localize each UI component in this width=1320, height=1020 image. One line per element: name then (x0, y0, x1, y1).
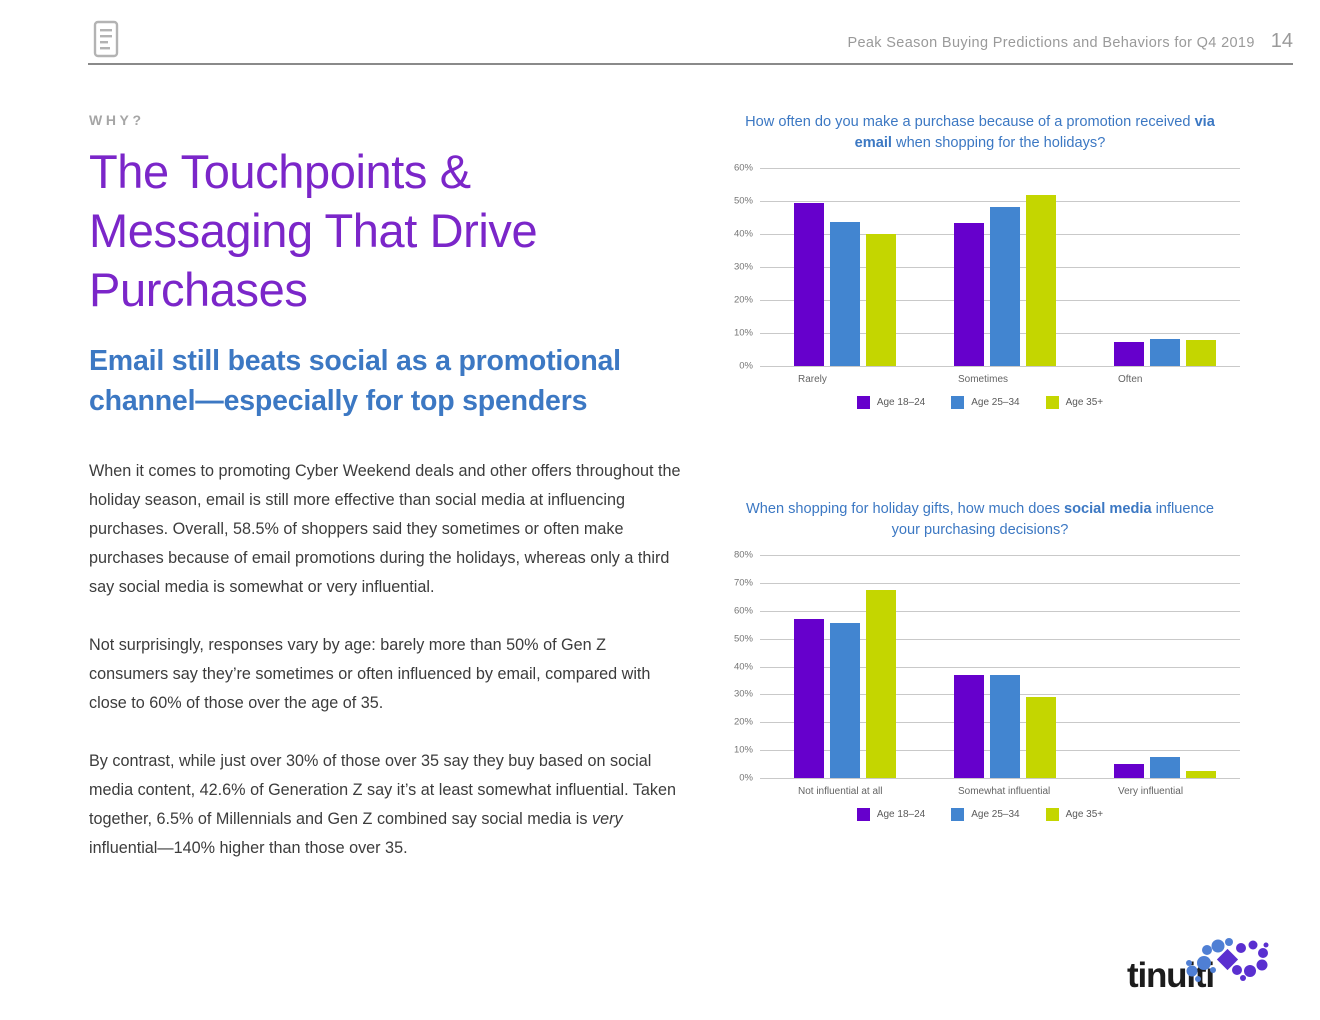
y-axis-tick: 0% (739, 773, 753, 784)
bar[interactable] (1150, 757, 1180, 778)
bar-group (760, 168, 920, 366)
x-axis-labels: RarelySometimesOften (760, 374, 1240, 385)
legend-swatch (951, 396, 964, 409)
x-axis-labels: Not influential at allSomewhat influenti… (760, 786, 1240, 797)
gridline: 0% (760, 366, 1240, 367)
bars-layer (760, 555, 1240, 778)
infinity-dots-icon (1180, 936, 1272, 993)
chart-title-bold: social media (1064, 501, 1152, 517)
section-eyebrow: WHY? (89, 112, 689, 128)
header-divider (88, 63, 1293, 65)
bar-group (1080, 168, 1240, 366)
paragraph-1: When it comes to promoting Cyber Weekend… (89, 457, 689, 602)
legend-label: Age 25–34 (971, 397, 1019, 408)
y-axis-tick: 20% (734, 295, 753, 306)
legend-swatch (951, 808, 964, 821)
chart-title-part1: When shopping for holiday gifts, how muc… (746, 501, 1064, 517)
y-axis-tick: 0% (739, 361, 753, 372)
chart-email-promotion-frequency: How often do you make a purchase because… (720, 112, 1240, 409)
article-column: WHY? The Touchpoints & Messaging That Dr… (89, 112, 689, 863)
x-axis-label: Not influential at all (760, 786, 920, 797)
legend-item[interactable]: Age 25–34 (951, 808, 1019, 821)
chart-social-media-influence: When shopping for holiday gifts, how muc… (720, 499, 1240, 821)
paragraph-3-part1: By contrast, while just over 30% of thos… (89, 752, 676, 828)
chart-legend: Age 18–24Age 25–34Age 35+ (720, 808, 1240, 821)
x-axis-label: Rarely (760, 374, 920, 385)
y-axis-tick: 70% (734, 577, 753, 588)
x-axis-label: Often (1080, 374, 1240, 385)
y-axis-tick: 80% (734, 550, 753, 561)
paragraph-3: By contrast, while just over 30% of thos… (89, 747, 689, 863)
page-header: Peak Season Buying Predictions and Behav… (88, 18, 1293, 64)
y-axis-tick: 20% (734, 717, 753, 728)
gridline: 0% (760, 778, 1240, 779)
paragraph-3-emphasis: very (592, 810, 623, 828)
bar[interactable] (794, 619, 824, 778)
y-axis-tick: 40% (734, 661, 753, 672)
y-axis-tick: 50% (734, 196, 753, 207)
bars-layer (760, 168, 1240, 366)
bar-group (760, 555, 920, 778)
bar-group (920, 168, 1080, 366)
bar[interactable] (1114, 342, 1144, 366)
bar[interactable] (1186, 340, 1216, 366)
y-axis-tick: 60% (734, 163, 753, 174)
bar[interactable] (1186, 771, 1216, 778)
brand-logo: tinuiti (1127, 936, 1272, 998)
legend-label: Age 25–34 (971, 809, 1019, 820)
legend-label: Age 35+ (1066, 397, 1104, 408)
legend-swatch (1046, 808, 1059, 821)
bar-group (1080, 555, 1240, 778)
legend-label: Age 18–24 (877, 809, 925, 820)
y-axis-tick: 10% (734, 745, 753, 756)
bar[interactable] (1026, 195, 1056, 366)
bar[interactable] (794, 203, 824, 366)
legend-swatch (857, 396, 870, 409)
bar[interactable] (1114, 764, 1144, 778)
legend-swatch (857, 808, 870, 821)
chart-plot-area: 0%10%20%30%40%50%60% RarelySometimesOfte… (720, 168, 1240, 366)
bar[interactable] (830, 623, 860, 778)
y-axis-tick: 60% (734, 605, 753, 616)
legend-item[interactable]: Age 35+ (1046, 808, 1104, 821)
header-title: Peak Season Buying Predictions and Behav… (847, 35, 1254, 51)
bar-group (920, 555, 1080, 778)
page-number: 14 (1271, 30, 1293, 53)
paragraph-2: Not surprisingly, responses vary by age:… (89, 631, 689, 718)
report-page: Peak Season Buying Predictions and Behav… (0, 0, 1320, 1020)
document-icon (88, 18, 124, 62)
chart-legend: Age 18–24Age 25–34Age 35+ (720, 396, 1240, 409)
bar[interactable] (954, 675, 984, 778)
legend-item[interactable]: Age 18–24 (857, 808, 925, 821)
bar[interactable] (954, 223, 984, 366)
bar[interactable] (1026, 697, 1056, 778)
legend-item[interactable]: Age 25–34 (951, 396, 1019, 409)
page-subtitle: Email still beats social as a promotiona… (89, 341, 689, 421)
chart-title: When shopping for holiday gifts, how muc… (720, 499, 1240, 541)
y-axis-tick: 10% (734, 328, 753, 339)
bar[interactable] (990, 675, 1020, 778)
x-axis-label: Somewhat influential (920, 786, 1080, 797)
page-title: The Touchpoints & Messaging That Drive P… (89, 142, 689, 319)
legend-label: Age 35+ (1066, 809, 1104, 820)
legend-swatch (1046, 396, 1059, 409)
y-axis-tick: 50% (734, 633, 753, 644)
y-axis-tick: 40% (734, 229, 753, 240)
chart-title: How often do you make a purchase because… (720, 112, 1240, 154)
chart-title-part2: when shopping for the holidays? (892, 135, 1105, 151)
bar[interactable] (866, 234, 896, 366)
body-copy: When it comes to promoting Cyber Weekend… (89, 457, 689, 863)
bar[interactable] (830, 222, 860, 366)
bar[interactable] (866, 590, 896, 778)
legend-item[interactable]: Age 18–24 (857, 396, 925, 409)
x-axis-label: Sometimes (920, 374, 1080, 385)
legend-label: Age 18–24 (877, 397, 925, 408)
header-meta: Peak Season Buying Predictions and Behav… (847, 30, 1293, 53)
bar[interactable] (990, 207, 1020, 366)
y-axis-tick: 30% (734, 262, 753, 273)
paragraph-3-part2: influential—140% higher than those over … (89, 839, 408, 857)
bar[interactable] (1150, 339, 1180, 366)
chart-plot-area: 0%10%20%30%40%50%60%70%80% Not influenti… (720, 555, 1240, 778)
y-axis-tick: 30% (734, 689, 753, 700)
chart-title-part1: How often do you make a purchase because… (745, 114, 1194, 130)
x-axis-label: Very influential (1080, 786, 1240, 797)
legend-item[interactable]: Age 35+ (1046, 396, 1104, 409)
